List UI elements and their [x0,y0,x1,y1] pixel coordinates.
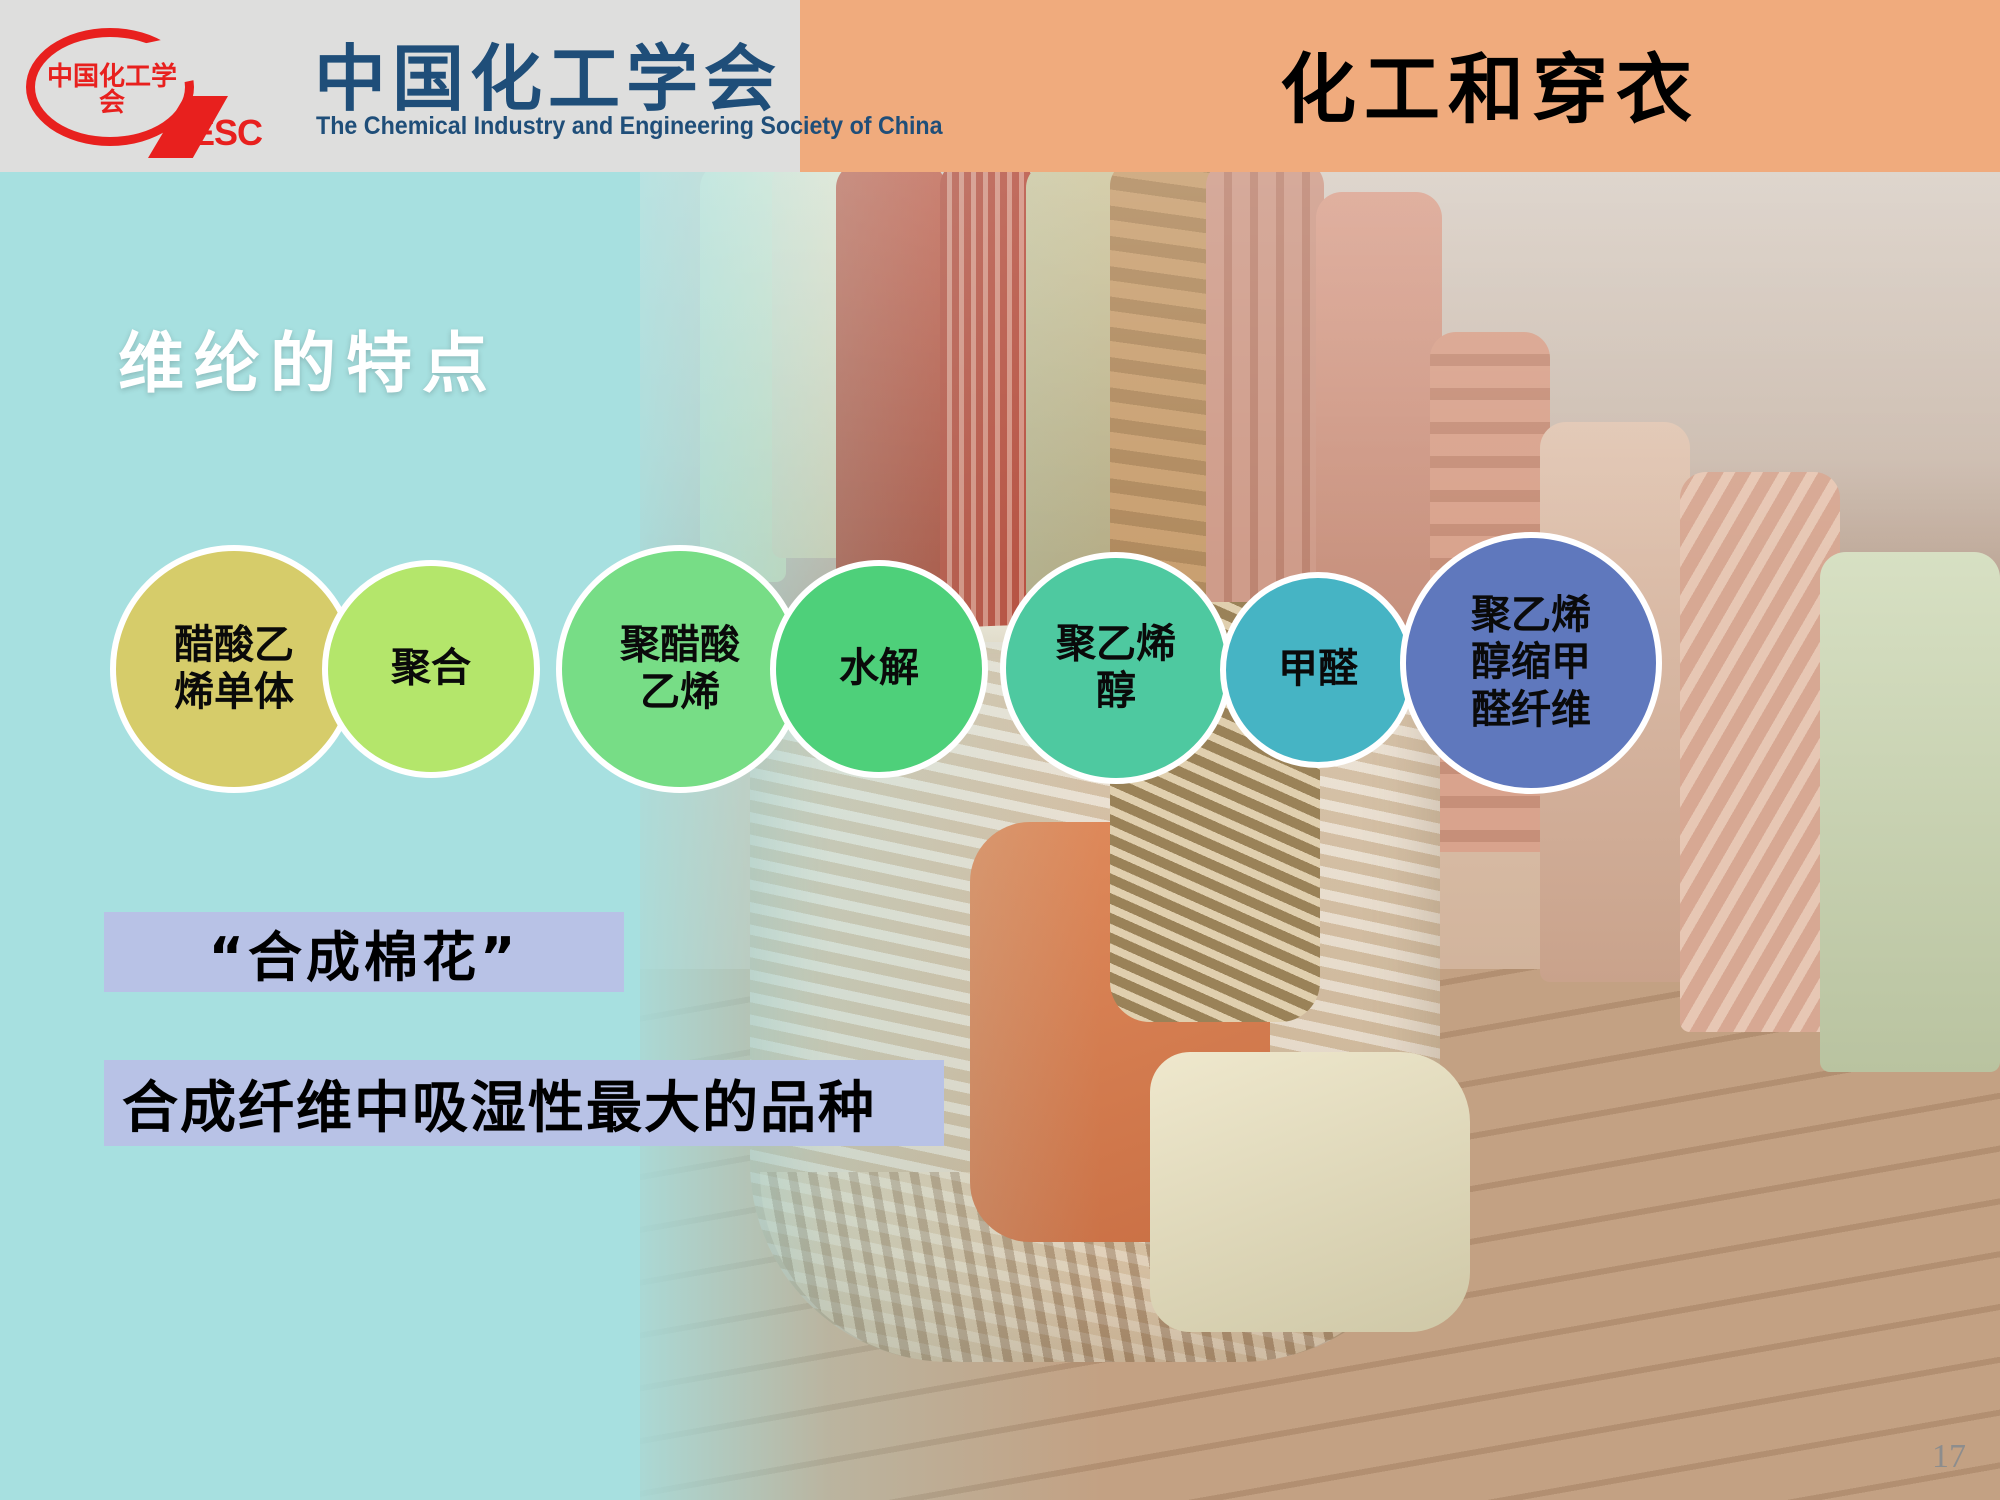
chain-node-label: 聚乙烯醇 [1044,621,1188,715]
chain-node-1: 聚合 [322,560,540,778]
chain-node-label: 聚合 [379,645,483,692]
chain-node-label: 醋酸乙烯单体 [162,622,306,716]
page-number: 17 [1932,1438,1966,1476]
chain-node-label: 聚乙烯醇缩甲醛纤维 [1459,592,1603,734]
chain-node-3: 水解 [770,560,988,778]
callout-text: 合成纤维中吸湿性最大的品种 [122,1063,876,1144]
chain-node-label: 甲醛 [1266,646,1370,693]
callout-text: “合成棉花” [209,913,520,992]
chain-node-0: 醋酸乙烯单体 [110,545,358,793]
slide-canvas: 中国化工学会 IESC 中国化工学会 The Chemical Industry… [0,0,2000,1500]
chain-node-6: 聚乙烯醇缩甲醛纤维 [1400,532,1662,794]
chain-node-label: 聚醋酸乙烯 [608,622,752,716]
chain-node-label: 水解 [827,645,931,692]
chain-node-5: 甲醛 [1220,572,1416,768]
callout-highest-moisture-absorption: 合成纤维中吸湿性最大的品种 [104,1060,944,1146]
chain-node-4: 聚乙烯醇 [1000,552,1232,784]
callout-synthetic-cotton: “合成棉花” [104,912,624,992]
chain-node-2: 聚醋酸乙烯 [556,545,804,793]
process-chain-diagram: 醋酸乙烯单体 聚合 聚醋酸乙烯 水解 聚乙烯醇 甲醛 聚乙烯醇缩甲醛纤维 [0,0,2000,1500]
